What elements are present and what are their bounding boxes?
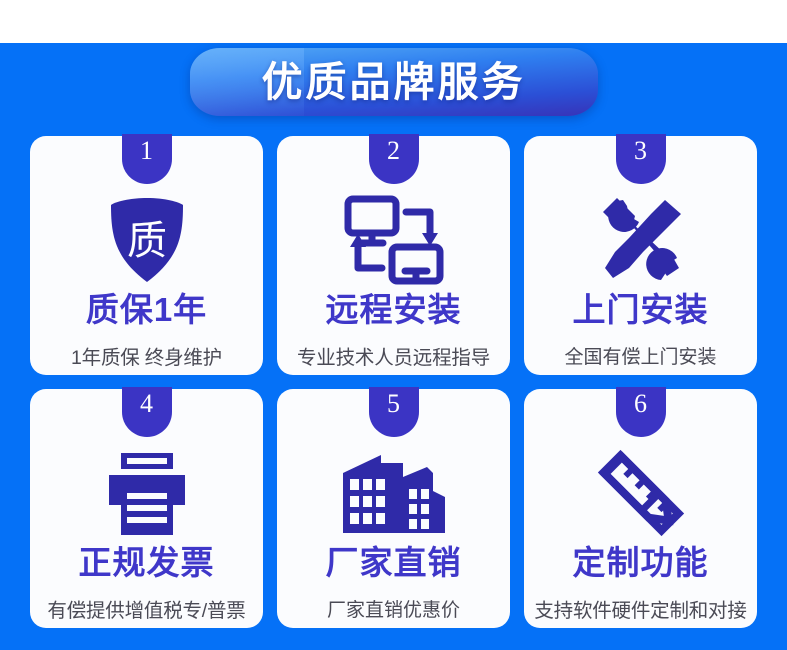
ruler-pencil-icon xyxy=(596,447,686,539)
service-card-customization[interactable]: 6 xyxy=(524,389,757,628)
service-card-factory-direct[interactable]: 5 xyxy=(277,389,510,628)
card-title: 上门安装 xyxy=(573,292,709,328)
card-title: 正规发票 xyxy=(79,545,215,581)
factory-buildings-icon xyxy=(341,447,447,539)
header-banner-wrapper: 优质品牌服务 xyxy=(0,47,787,117)
remote-monitors-icon xyxy=(342,194,446,286)
card-subtitle: 有偿提供增值税专/普票 xyxy=(47,600,245,622)
card-subtitle: 1年质保 终身维护 xyxy=(71,347,222,369)
service-card-grid: 1 质 质保1年 1年质保 终身维护 2 xyxy=(30,136,757,628)
card-subtitle: 全国有偿上门安装 xyxy=(564,347,716,369)
card-subtitle: 厂家直销优惠价 xyxy=(327,600,460,622)
card-number-badge: 3 xyxy=(616,134,666,184)
service-card-warranty[interactable]: 1 质 质保1年 1年质保 终身维护 xyxy=(30,136,263,375)
service-card-remote-install[interactable]: 2 远程安装 xyxy=(277,136,510,375)
service-card-invoice[interactable]: 4 正规发票 有偿提供增值税专/普票 xyxy=(30,389,263,628)
service-card-onsite-install[interactable]: 3 上门安装 全国有偿上门 xyxy=(524,136,757,375)
svg-text:质: 质 xyxy=(127,219,167,263)
card-number: 1 xyxy=(140,137,153,164)
header-banner: 优质品牌服务 xyxy=(190,48,598,116)
card-title: 定制功能 xyxy=(573,545,709,581)
card-number: 2 xyxy=(387,137,400,164)
card-number: 3 xyxy=(634,137,647,164)
card-number-badge: 4 xyxy=(122,387,172,437)
card-number-badge: 6 xyxy=(616,387,666,437)
card-number-badge: 2 xyxy=(369,134,419,184)
printer-invoice-icon xyxy=(103,447,191,539)
banner-title: 优质品牌服务 xyxy=(262,62,526,103)
card-title: 远程安装 xyxy=(326,292,462,328)
card-subtitle: 专业技术人员远程指导 xyxy=(297,347,490,369)
card-title: 质保1年 xyxy=(86,292,207,328)
card-number-badge: 5 xyxy=(369,387,419,437)
card-number: 5 xyxy=(387,390,400,417)
service-guarantee-banner: 优质品牌服务 1 质 质保1年 1年质保 终身维护 2 xyxy=(0,0,787,650)
card-number-badge: 1 xyxy=(122,134,172,184)
card-number: 6 xyxy=(634,390,647,417)
card-title: 厂家直销 xyxy=(326,545,462,581)
card-subtitle: 支持软件硬件定制和对接 xyxy=(534,600,746,622)
wrench-screwdriver-icon xyxy=(595,194,687,286)
card-number: 4 xyxy=(140,390,153,417)
shield-quality-icon: 质 xyxy=(105,194,189,286)
